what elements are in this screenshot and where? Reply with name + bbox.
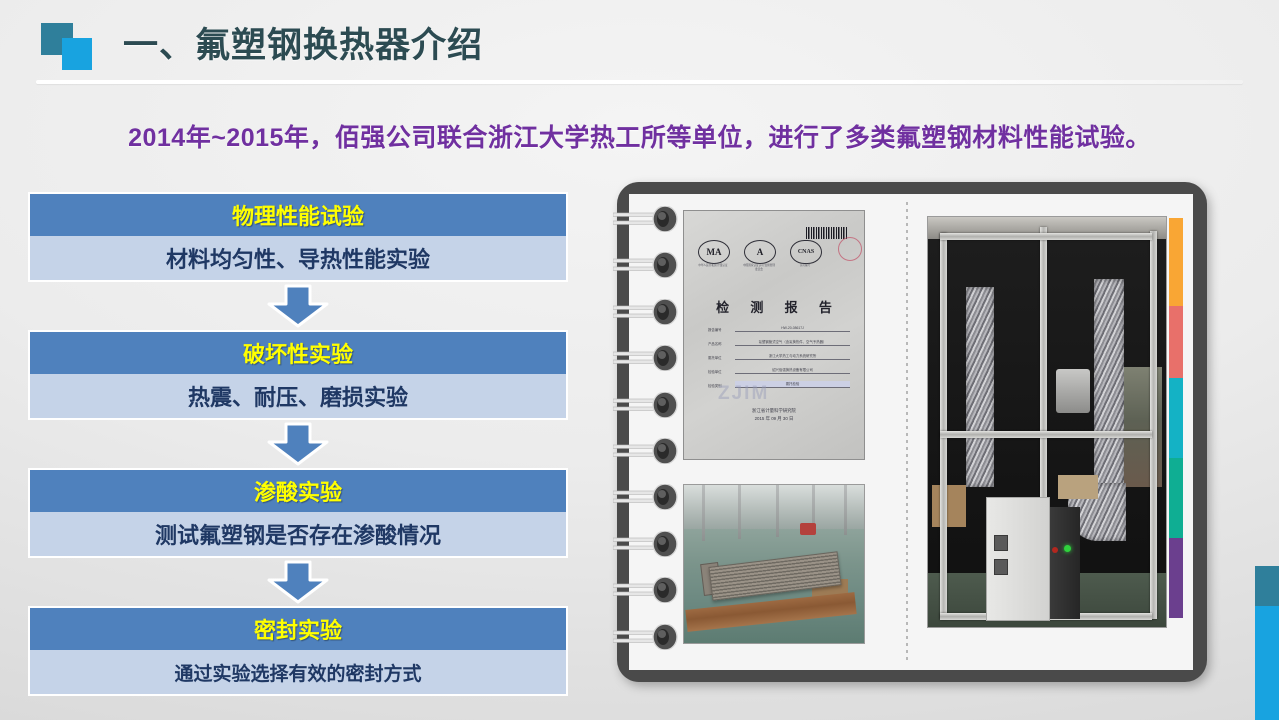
down-arrow-icon xyxy=(265,422,331,466)
report-issuer-name: 浙江省计量科学研究院 xyxy=(684,407,864,415)
photo-test-report: MA 中华人民共和国 计量认证 A 中国国家认证认可 监督管理委员会 CNAS … xyxy=(683,210,865,460)
experiment-flowchart: 物理性能试验 材料均匀性、导热性能实验 破坏性实验 热震、耐压、磨损实验 渗酸实… xyxy=(28,192,568,692)
color-bar-segment-purple xyxy=(1169,538,1183,618)
slide: 一、氟塑钢换热器介绍 2014年~2015年，佰强公司联合浙江大学热工所等单位，… xyxy=(0,0,1279,720)
photo-factory-tube-bundles xyxy=(683,484,865,644)
rig-indicator-red xyxy=(1052,547,1058,553)
down-arrow-icon xyxy=(265,560,331,604)
insulated-duct-right xyxy=(1094,279,1124,489)
report-field: 报告编号 HW-20-08617J xyxy=(708,323,850,332)
rig-cabinet-gauge xyxy=(994,559,1008,575)
notebook-photo-panel: MA 中华人民共和国 计量认证 A 中国国家认证认可 监督管理委员会 CNAS … xyxy=(617,182,1207,682)
rig-blower-motor xyxy=(1056,369,1090,413)
factory-forklift xyxy=(800,523,816,535)
factory-roof xyxy=(684,485,864,529)
flow-arrow-1 xyxy=(28,282,568,330)
insulated-duct-left xyxy=(966,287,994,487)
notebook-page: MA 中华人民共和国 计量认证 A 中国国家认证认可 监督管理委员会 CNAS … xyxy=(629,194,1193,670)
flow-step-desc: 材料均匀性、导热性能实验 xyxy=(28,236,568,282)
flow-step-desc: 通过实验选择有效的密封方式 xyxy=(28,650,568,696)
cert-sub-2: 中国国家认证认可 监督管理委员会 xyxy=(742,264,776,272)
cert-sub-3: 认可编号 xyxy=(788,264,822,268)
page-title: 一、氟塑钢换热器介绍 xyxy=(123,17,483,68)
flow-arrow-2 xyxy=(28,420,568,468)
report-field-value: HW-20-08617J xyxy=(735,326,850,332)
flow-step-title: 破坏性实验 xyxy=(28,330,568,374)
flow-step-4: 密封实验 通过实验选择有效的密封方式 xyxy=(28,606,568,696)
flow-step-desc: 测试氟塑钢是否存在渗酸情况 xyxy=(28,512,568,558)
report-issue-date: 2015 年 09 月 30 日 xyxy=(684,415,864,423)
certification-marks: MA 中华人民共和国 计量认证 A 中国国家认证认可 监督管理委员会 CNAS … xyxy=(698,235,848,269)
color-bar-segment-teal xyxy=(1169,458,1183,538)
factory-column xyxy=(702,485,705,541)
notebook-page-left: MA 中华人民共和国 计量认证 A 中国国家认证认可 监督管理委员会 CNAS … xyxy=(629,194,911,670)
flow-step-desc: 热震、耐压、磨损实验 xyxy=(28,374,568,420)
report-field: 产品名称 氟塑钢管式空气（含氟换热件、空气予热器） xyxy=(708,337,850,346)
logo-square-light xyxy=(62,38,92,70)
report-field: 委托单位 浙江大学热工与动力系统研究所 xyxy=(708,351,850,360)
rig-frame-post xyxy=(940,233,947,619)
rig-frame-post xyxy=(1150,231,1157,619)
flow-step-title: 密封实验 xyxy=(28,606,568,650)
header-divider xyxy=(36,80,1243,84)
report-watermark: ZJIM xyxy=(718,383,769,405)
cert-mark-cma: A xyxy=(744,240,776,264)
rig-equipment-box xyxy=(1058,475,1098,499)
rig-cabinet-gauge xyxy=(994,535,1008,551)
notebook-page-right xyxy=(911,194,1193,670)
flow-step-1: 物理性能试验 材料均匀性、导热性能实验 xyxy=(28,192,568,282)
color-bar-segment-cyan xyxy=(1169,378,1183,458)
report-field: 检验单位 绍兴佰强换热设备有限公司 xyxy=(708,365,850,374)
rig-carton-box xyxy=(932,485,966,527)
flow-step-title: 物理性能试验 xyxy=(28,192,568,236)
rig-frame-rail xyxy=(940,233,1152,240)
factory-column xyxy=(844,485,847,535)
color-bar-segment-orange xyxy=(1169,218,1183,306)
factory-column xyxy=(776,485,779,537)
down-arrow-icon xyxy=(265,284,331,328)
rig-frame-rail xyxy=(940,431,1152,438)
color-bar-segment-salmon xyxy=(1169,306,1183,378)
cert-mark-ma: MA xyxy=(698,240,730,264)
flow-step-title: 渗酸实验 xyxy=(28,468,568,512)
report-document-title: 检 测 报 告 xyxy=(684,297,864,316)
photo-test-rig xyxy=(927,216,1167,628)
subtitle-text: 2014年~2015年，佰强公司联合浙江大学热工所等单位，进行了多类氟塑钢材料性… xyxy=(0,118,1279,154)
report-field-value: 浙江大学热工与动力系统研究所 xyxy=(735,353,850,360)
report-field-label: 委托单位 xyxy=(708,355,730,360)
report-field-label: 检验单位 xyxy=(708,369,730,374)
page-perforation-line xyxy=(906,202,908,662)
report-field-label: 产品名称 xyxy=(708,341,730,346)
factory-column xyxy=(738,485,741,539)
report-issuer-block: 浙江省计量科学研究院 2015 年 09 月 30 日 xyxy=(684,407,864,424)
cert-sub-1: 中华人民共和国 计量认证 xyxy=(696,264,730,268)
accent-square-dark xyxy=(1255,566,1279,606)
report-field-label: 报告编号 xyxy=(708,327,730,332)
accent-square-bright xyxy=(1255,606,1279,720)
color-bar xyxy=(1169,218,1183,618)
report-field-value: 绍兴佰强换热设备有限公司 xyxy=(735,367,850,374)
cert-mark-cnas: CNAS xyxy=(790,240,822,264)
flow-arrow-3 xyxy=(28,558,568,606)
slide-header: 一、氟塑钢换热器介绍 xyxy=(0,0,1279,92)
flow-step-2: 破坏性实验 热震、耐压、磨损实验 xyxy=(28,330,568,420)
rig-control-panel xyxy=(1050,507,1080,619)
report-field-value: 氟塑钢管式空气（含氟换热件、空气予热器） xyxy=(735,339,850,346)
flow-step-3: 渗酸实验 测试氟塑钢是否存在渗酸情况 xyxy=(28,468,568,558)
rig-indicator-green xyxy=(1064,545,1071,552)
